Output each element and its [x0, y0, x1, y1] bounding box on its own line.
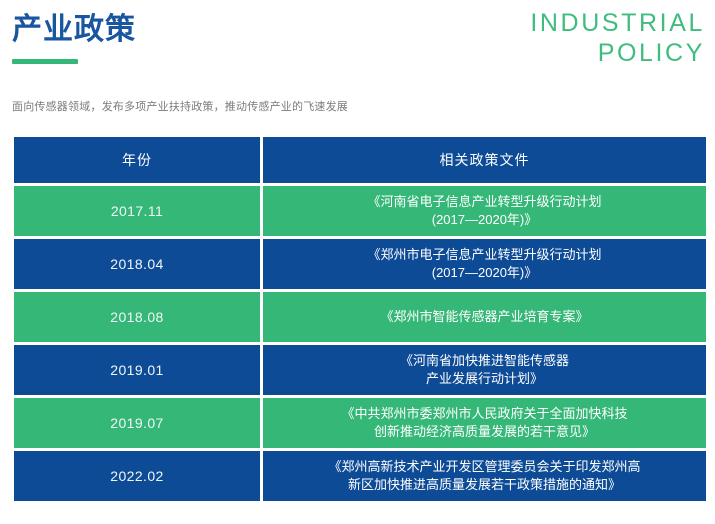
document-line: 产业发展行动计划》: [269, 370, 700, 388]
document-line: (2017—2020年)》: [269, 264, 700, 282]
document-line: 《河南省电子信息产业转型升级行动计划: [269, 193, 700, 211]
title-block: 产业政策: [12, 10, 136, 64]
table-body: 2017.11《河南省电子信息产业转型升级行动计划(2017—2020年)》20…: [14, 186, 706, 501]
policy-table: 年份 相关政策文件 2017.11《河南省电子信息产业转型升级行动计划(2017…: [11, 134, 709, 504]
cell-year: 2018.08: [14, 292, 260, 342]
table-row: 2018.08《郑州市智能传感器产业培育专案》: [14, 292, 706, 342]
table-row: 2019.07《中共郑州市委郑州市人民政府关于全面加快科技创新推动经济高质量发展…: [14, 398, 706, 448]
english-title-line-2: POLICY: [530, 38, 705, 68]
page-subtitle: 面向传感器领域，发布多项产业扶持政策，推动传感产业的飞速发展: [12, 98, 348, 114]
table-header: 年份 相关政策文件: [14, 137, 706, 183]
title-underline-accent: [12, 59, 78, 64]
document-line: 《河南省加快推进智能传感器: [269, 352, 700, 370]
table-header-row: 年份 相关政策文件: [14, 137, 706, 183]
table-row: 2017.11《河南省电子信息产业转型升级行动计划(2017—2020年)》: [14, 186, 706, 236]
page-title: 产业政策: [12, 10, 136, 50]
page-header: 产业政策 INDUSTRIAL POLICY 面向传感器领域，发布多项产业扶持政…: [0, 0, 715, 130]
document-line: (2017—2020年)》: [269, 211, 700, 229]
document-line: 《郑州市智能传感器产业培育专案》: [269, 308, 700, 326]
english-title-line-1: INDUSTRIAL: [530, 9, 705, 37]
table-row: 2022.02《郑州高新技术产业开发区管理委员会关于印发郑州高新区加快推进高质量…: [14, 451, 706, 501]
cell-document: 《郑州高新技术产业开发区管理委员会关于印发郑州高新区加快推进高质量发展若干政策措…: [263, 451, 706, 501]
cell-year: 2018.04: [14, 239, 260, 289]
document-line: 《郑州市电子信息产业转型升级行动计划: [269, 246, 700, 264]
cell-year: 2022.02: [14, 451, 260, 501]
table-row: 2019.01《河南省加快推进智能传感器产业发展行动计划》: [14, 345, 706, 395]
cell-year: 2019.01: [14, 345, 260, 395]
cell-document: 《郑州市电子信息产业转型升级行动计划(2017—2020年)》: [263, 239, 706, 289]
table-row: 2018.04《郑州市电子信息产业转型升级行动计划(2017—2020年)》: [14, 239, 706, 289]
cell-document: 《河南省加快推进智能传感器产业发展行动计划》: [263, 345, 706, 395]
cell-document: 《郑州市智能传感器产业培育专案》: [263, 292, 706, 342]
column-header-document: 相关政策文件: [263, 137, 706, 183]
document-line: 《中共郑州市委郑州市人民政府关于全面加快科技: [269, 405, 700, 423]
cell-document: 《中共郑州市委郑州市人民政府关于全面加快科技创新推动经济高质量发展的若干意见》: [263, 398, 706, 448]
document-line: 新区加快推进高质量发展若干政策措施的通知》: [269, 476, 700, 494]
document-line: 创新推动经济高质量发展的若干意见》: [269, 423, 700, 441]
cell-year: 2019.07: [14, 398, 260, 448]
english-title: INDUSTRIAL POLICY: [530, 8, 705, 68]
document-line: 《郑州高新技术产业开发区管理委员会关于印发郑州高: [269, 458, 700, 476]
cell-document: 《河南省电子信息产业转型升级行动计划(2017—2020年)》: [263, 186, 706, 236]
cell-year: 2017.11: [14, 186, 260, 236]
column-header-year: 年份: [14, 137, 260, 183]
